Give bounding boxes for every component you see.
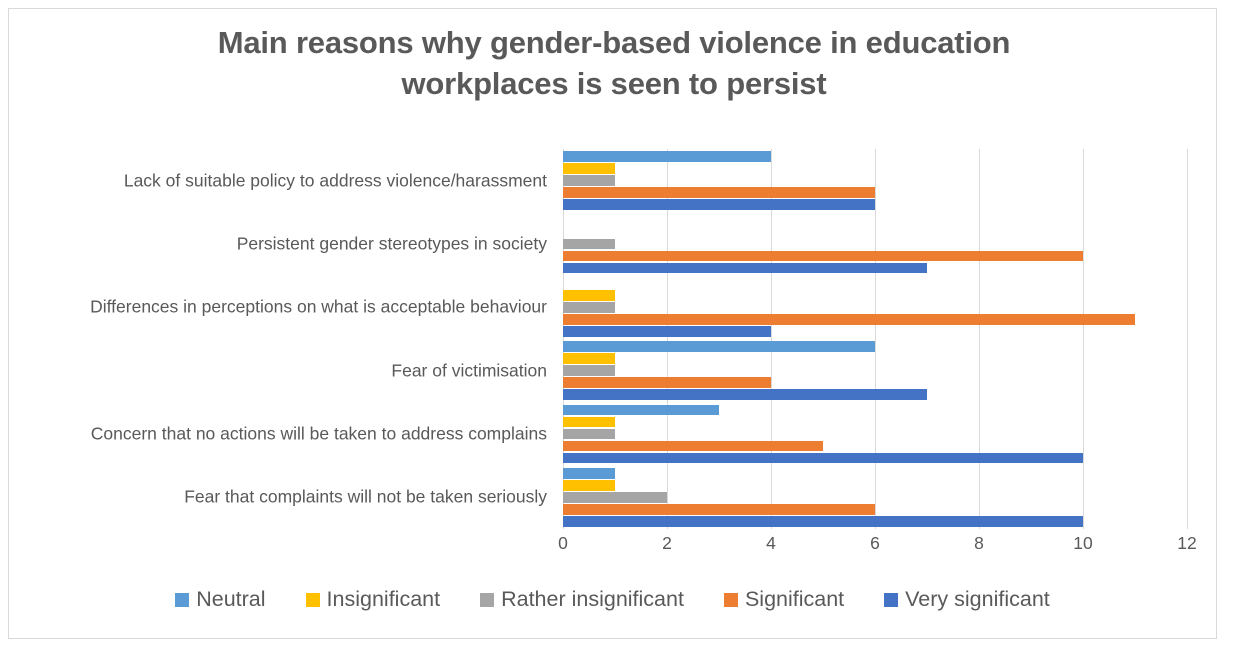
bar-group — [563, 339, 1187, 402]
bar-group — [563, 212, 1187, 275]
category-label: Fear that complaints will not be taken s… — [9, 487, 547, 508]
bar-insignificant[interactable] — [563, 353, 615, 364]
legend-item-insignificant[interactable]: Insignificant — [306, 587, 441, 612]
category-label: Fear of victimisation — [9, 360, 547, 381]
bar-neutral[interactable] — [563, 405, 719, 416]
x-tick-label-0: 0 — [558, 533, 568, 554]
x-tick-label-2: 2 — [662, 533, 672, 554]
bar-row — [563, 239, 1187, 250]
bar-row — [563, 290, 1187, 301]
bar-neutral[interactable] — [563, 468, 615, 479]
category-label: Differences in perceptions on what is ac… — [9, 297, 547, 318]
legend-swatch-icon — [884, 593, 898, 607]
bar-very-significant[interactable] — [563, 453, 1083, 464]
bar-group — [563, 149, 1187, 212]
bar-row — [563, 278, 1187, 289]
bar-rather-insignificant[interactable] — [563, 302, 615, 313]
chart-title: Main reasons why gender-based violence i… — [129, 23, 1099, 105]
bar-row — [563, 353, 1187, 364]
legend-item-neutral[interactable]: Neutral — [175, 587, 265, 612]
bar-significant[interactable] — [563, 187, 875, 198]
value-axis-labels: 024681012 — [563, 533, 1187, 559]
x-tick-label-8: 8 — [974, 533, 984, 554]
bar-very-significant[interactable] — [563, 389, 927, 400]
category-label: Lack of suitable policy to address viole… — [9, 170, 547, 191]
bar-significant[interactable] — [563, 441, 823, 452]
bar-very-significant[interactable] — [563, 326, 771, 337]
bar-row — [563, 341, 1187, 352]
bar-row — [563, 163, 1187, 174]
bar-row — [563, 389, 1187, 400]
bar-row — [563, 302, 1187, 313]
bar-row — [563, 480, 1187, 491]
legend-item-significant[interactable]: Significant — [724, 587, 844, 612]
bar-significant[interactable] — [563, 377, 771, 388]
bar-row — [563, 377, 1187, 388]
x-tick-label-10: 10 — [1073, 533, 1092, 554]
bar-row — [563, 453, 1187, 464]
bar-row — [563, 429, 1187, 440]
legend-item-rather-insignificant[interactable]: Rather insignificant — [480, 587, 684, 612]
bar-significant[interactable] — [563, 251, 1083, 262]
bar-insignificant[interactable] — [563, 290, 615, 301]
bar-insignificant[interactable] — [563, 480, 615, 491]
category-label: Concern that no actions will be taken to… — [9, 424, 547, 445]
chart-title-line-2: workplaces is seen to persist — [129, 64, 1099, 105]
bar-rather-insignificant[interactable] — [563, 239, 615, 250]
bar-significant[interactable] — [563, 504, 875, 515]
bar-rather-insignificant[interactable] — [563, 175, 615, 186]
bar-row — [563, 468, 1187, 479]
legend-item-very-significant[interactable]: Very significant — [884, 587, 1050, 612]
bar-row — [563, 227, 1187, 238]
legend-label: Very significant — [905, 587, 1050, 612]
bar-row — [563, 251, 1187, 262]
legend-swatch-icon — [306, 593, 320, 607]
bar-group — [563, 276, 1187, 339]
bar-row — [563, 417, 1187, 428]
x-tick-label-6: 6 — [870, 533, 880, 554]
bar-row — [563, 151, 1187, 162]
gridline-12 — [1187, 149, 1188, 529]
bar-row — [563, 492, 1187, 503]
bar-rather-insignificant[interactable] — [563, 492, 667, 503]
legend-label: Insignificant — [327, 587, 441, 612]
bar-row — [563, 504, 1187, 515]
bar-very-significant[interactable] — [563, 263, 927, 274]
x-tick-label-12: 12 — [1177, 533, 1196, 554]
bar-rather-insignificant[interactable] — [563, 365, 615, 376]
bar-group — [563, 402, 1187, 465]
bar-insignificant[interactable] — [563, 417, 615, 428]
legend-swatch-icon — [175, 593, 189, 607]
bar-row — [563, 263, 1187, 274]
chart-container: Main reasons why gender-based violence i… — [8, 8, 1217, 639]
chart-legend: NeutralInsignificantRather insignificant… — [9, 587, 1216, 612]
bar-row — [563, 365, 1187, 376]
bar-row — [563, 441, 1187, 452]
category-label: Persistent gender stereotypes in society — [9, 234, 547, 255]
bar-rather-insignificant[interactable] — [563, 429, 615, 440]
bar-very-significant[interactable] — [563, 516, 1083, 527]
legend-label: Significant — [745, 587, 844, 612]
chart-title-line-1: Main reasons why gender-based violence i… — [129, 23, 1099, 64]
bar-row — [563, 314, 1187, 325]
bar-row — [563, 516, 1187, 527]
bar-group — [563, 466, 1187, 529]
bar-insignificant[interactable] — [563, 163, 615, 174]
bar-row — [563, 199, 1187, 210]
bar-very-significant[interactable] — [563, 199, 875, 210]
bar-significant[interactable] — [563, 314, 1135, 325]
legend-swatch-icon — [480, 593, 494, 607]
legend-label: Neutral — [196, 587, 265, 612]
bar-row — [563, 215, 1187, 226]
bar-row — [563, 405, 1187, 416]
bar-row — [563, 326, 1187, 337]
bar-row — [563, 187, 1187, 198]
x-tick-label-4: 4 — [766, 533, 776, 554]
legend-swatch-icon — [724, 593, 738, 607]
legend-label: Rather insignificant — [501, 587, 684, 612]
category-axis-labels: Lack of suitable policy to address viole… — [9, 149, 555, 529]
bar-neutral[interactable] — [563, 341, 875, 352]
bar-row — [563, 175, 1187, 186]
bar-neutral[interactable] — [563, 151, 771, 162]
plot-area — [563, 149, 1187, 529]
